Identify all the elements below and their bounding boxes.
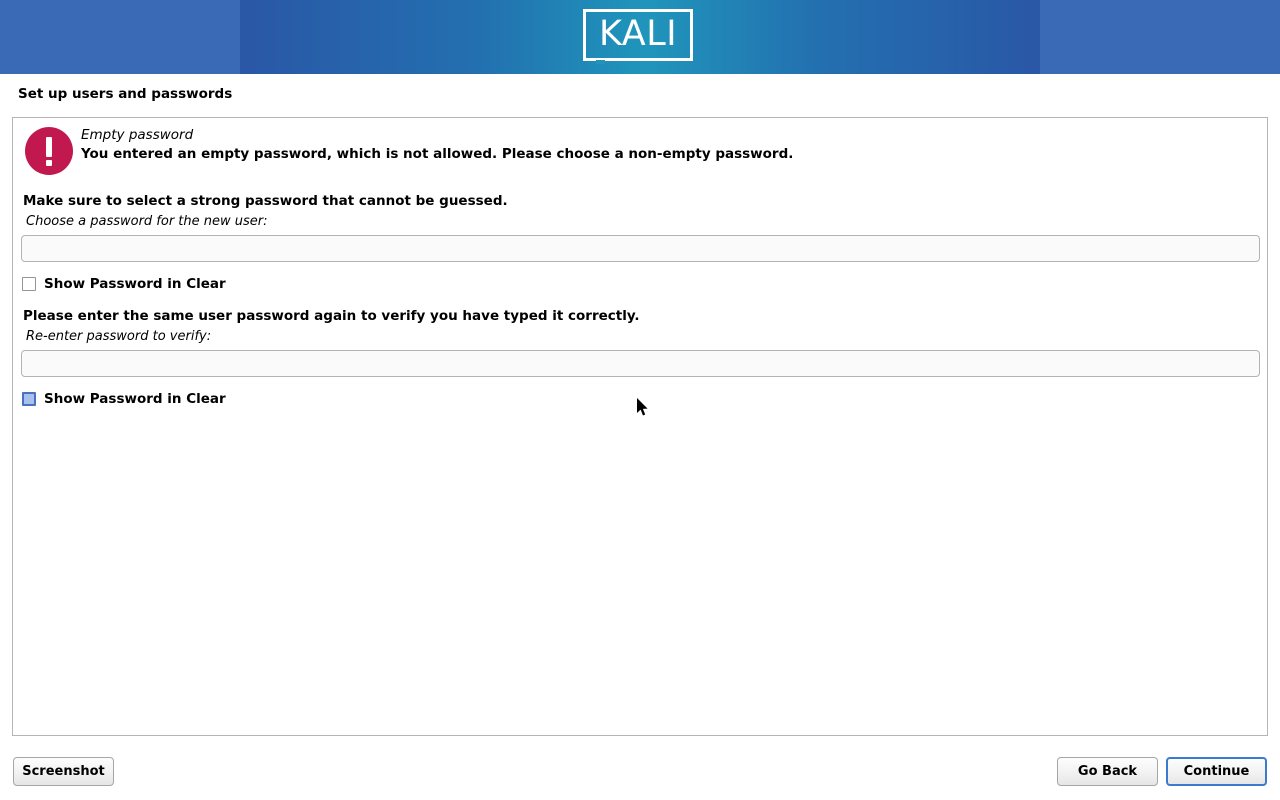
kali-header-banner: KALI — [0, 0, 1280, 74]
show-password-label-2: Show Password in Clear — [44, 391, 226, 407]
password-field-label: Choose a password for the new user: — [26, 214, 268, 229]
verify-field-label: Re-enter password to verify: — [26, 329, 211, 344]
installer-content-panel: Empty password You entered an empty pass… — [12, 117, 1268, 736]
error-exclamation-icon — [25, 127, 73, 175]
error-message: You entered an empty password, which is … — [81, 146, 793, 162]
kali-logo: KALI — [583, 9, 697, 65]
password-input[interactable] — [21, 235, 1260, 262]
page-title: Set up users and passwords — [18, 86, 232, 102]
show-password-checkbox-1[interactable] — [22, 277, 36, 291]
verify-password-input[interactable] — [21, 350, 1260, 377]
screenshot-button[interactable]: Screenshot — [13, 757, 114, 786]
show-password-label-1: Show Password in Clear — [44, 276, 226, 292]
verify-heading: Please enter the same user password agai… — [23, 308, 640, 324]
continue-button[interactable]: Continue — [1166, 757, 1267, 786]
password-heading: Make sure to select a strong password th… — [23, 193, 508, 209]
show-password-checkbox-2[interactable] — [22, 392, 36, 406]
kali-logo-text: KALI — [583, 9, 693, 61]
error-title: Empty password — [81, 127, 193, 143]
go-back-button[interactable]: Go Back — [1057, 757, 1158, 786]
exclamation-stem — [46, 137, 52, 157]
exclamation-dot — [46, 160, 52, 166]
